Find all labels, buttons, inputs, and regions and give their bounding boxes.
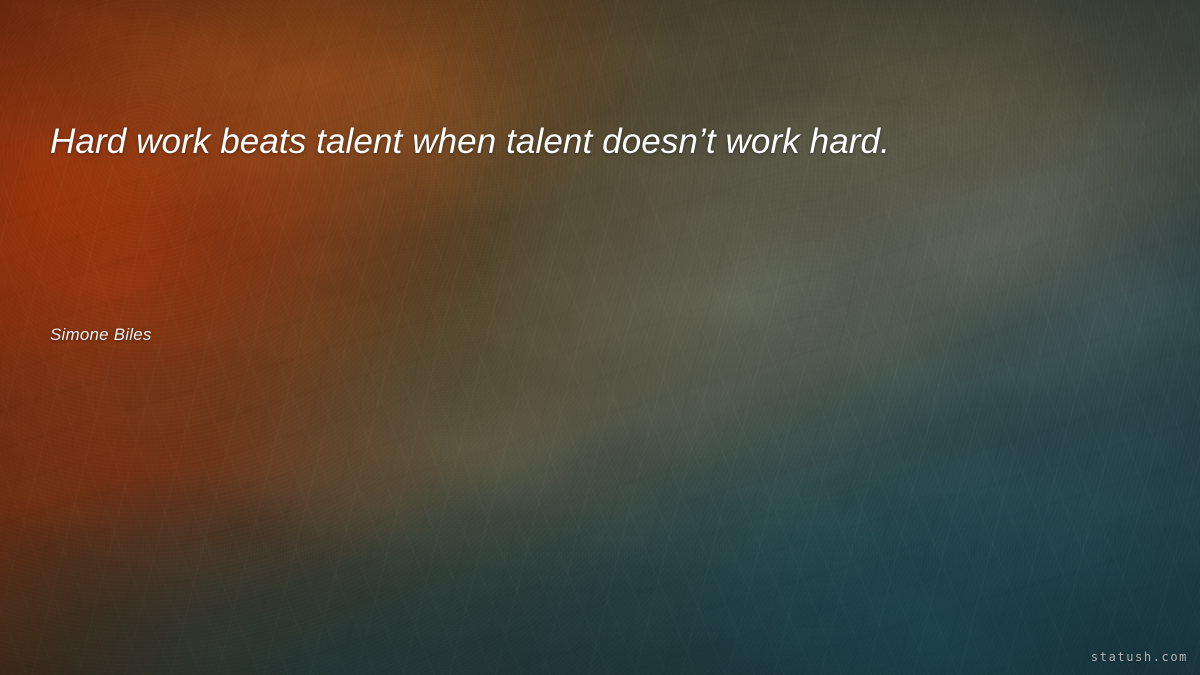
quote-text: Hard work beats talent when talent doesn… bbox=[50, 120, 1110, 164]
quote-author: Simone Biles bbox=[50, 323, 152, 347]
site-watermark: statush.com bbox=[1091, 649, 1188, 665]
quote-poster: Hard work beats talent when talent doesn… bbox=[0, 0, 1200, 675]
quote-content: Hard work beats talent when talent doesn… bbox=[0, 0, 1200, 675]
